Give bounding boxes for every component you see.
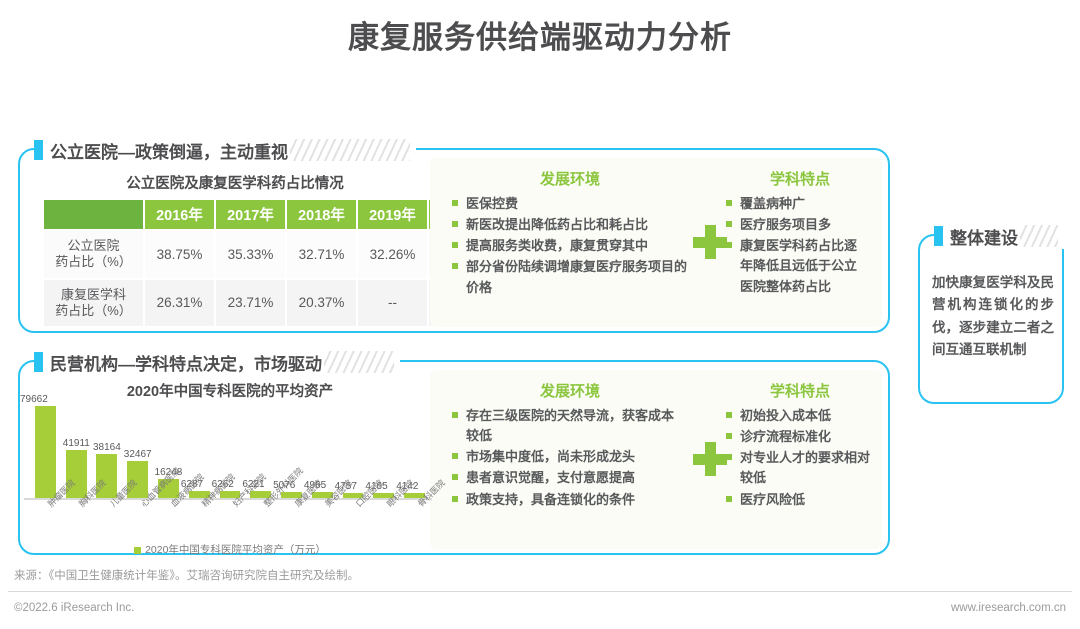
list-item: 覆盖病种广 xyxy=(726,194,866,214)
list-item: 存在三级医院的天然导流，获客成本较低 xyxy=(452,406,684,446)
list-item: 康复医学科药占比逐年降低且远低于公立医院整体药占比 xyxy=(726,236,866,296)
panel-public-hospital-title: 公立医院—政策倒逼，主动重视 xyxy=(50,138,288,163)
env-bullet-list: 存在三级医院的天然导流，获客成本较低 市场集中度低，尚未形成龙头 患者意识觉醒，… xyxy=(452,406,684,511)
hatch-decoration-icon xyxy=(290,139,410,161)
legend-swatch-icon xyxy=(134,547,141,554)
page-title: 康复服务供给端驱动力分析 xyxy=(0,12,1080,57)
panel-private-institution-title: 民营机构—学科特点决定，市场驱动 xyxy=(50,350,322,375)
table-cell: 23.71% xyxy=(216,280,285,327)
plus-icon xyxy=(693,442,727,476)
x-tick: 美容医院 xyxy=(307,501,338,543)
feature-bullet-list: 覆盖病种广 医疗服务项目多 康复医学科药占比逐年降低且远低于公立医院整体药占比 xyxy=(726,194,866,298)
x-tick: 胸科医院 xyxy=(61,501,92,543)
table-col-2017: 2017年 xyxy=(216,200,285,229)
panel-overall-construction: 整体建设 加快康复医学科及民营机构连锁化的步伐，逐步建立二者之间互通互联机制 xyxy=(918,234,1064,404)
feature-column-title: 学科特点 xyxy=(720,168,880,189)
plus-icon xyxy=(693,225,727,259)
bar-value-label: 41911 xyxy=(63,438,90,449)
panel-overall-construction-header: 整体建设 xyxy=(934,223,1064,249)
feature-bullet-list: 初始投入成本低 诊疗流程标准化 对专业人才的要求相对较低 医疗风险低 xyxy=(726,406,870,511)
panel-public-hospital-header: 公立医院—政策倒逼，主动重视 xyxy=(34,137,416,163)
bar-value-label: 79662 xyxy=(20,394,48,405)
website-url[interactable]: www.iresearch.com.cn xyxy=(951,602,1066,614)
x-tick: 眼科医院 xyxy=(368,501,399,543)
panel-overall-construction-title: 整体建设 xyxy=(950,224,1018,249)
list-item: 医保控费 xyxy=(452,194,690,214)
panel-public-hospital: 公立医院—政策倒逼，主动重视 公立医院及康复医学科药占比情况 2016年 201… xyxy=(18,148,890,333)
x-tick: 康复医院 xyxy=(276,501,307,543)
panel-private-institution-header: 民营机构—学科特点决定，市场驱动 xyxy=(34,349,400,375)
x-tick: 骨科医院 xyxy=(399,501,430,543)
row-label-line2: 药占比（%） xyxy=(55,254,132,269)
table-cell: 32.26% xyxy=(358,231,427,278)
list-item: 医疗服务项目多 xyxy=(726,215,866,235)
bar-value-label: 32467 xyxy=(124,449,152,460)
accent-bar-icon xyxy=(34,352,43,372)
list-item: 部分省份陆续调增康复医疗服务项目的价格 xyxy=(452,257,690,297)
copyright-text: ©2022.6 iResearch Inc. xyxy=(14,602,134,614)
footer-divider xyxy=(8,591,1072,592)
list-item: 新医改提出降低药占比和耗占比 xyxy=(452,215,690,235)
table-row-label: 公立医院 药占比（%） xyxy=(44,231,143,278)
x-tick: 心血管病医院 xyxy=(122,501,153,543)
env-column-title: 发展环境 xyxy=(475,380,665,401)
x-tick: 口腔医院 xyxy=(338,501,369,543)
list-item: 医疗风险低 xyxy=(726,490,870,510)
env-column-title: 发展环境 xyxy=(475,168,665,189)
source-note: 来源：《中国卫生健康统计年鉴》。艾瑞咨询研究院自主研究及绘制。 xyxy=(14,567,359,583)
list-item: 市场集中度低，尚未形成龙头 xyxy=(452,447,684,467)
chart-x-tick-labels: 肿瘤医院胸科医院儿童医院心血管病医院血液病医院精神病医院妇产科医院整形外科医院康… xyxy=(30,501,430,543)
list-item: 政策支持，具备连锁化的条件 xyxy=(452,490,684,510)
list-item: 初始投入成本低 xyxy=(726,406,870,426)
x-tick: 妇产科医院 xyxy=(215,501,246,543)
hatch-decoration-icon xyxy=(324,351,394,373)
bar xyxy=(35,406,56,498)
feature-column-title: 学科特点 xyxy=(720,380,880,401)
table-cell: 32.71% xyxy=(287,231,356,278)
bar-item: 79662 xyxy=(30,398,61,498)
table-col-2018: 2018年 xyxy=(287,200,356,229)
table-col-2019: 2019年 xyxy=(358,200,427,229)
bar-value-label: 38164 xyxy=(93,442,121,453)
x-tick: 血液病医院 xyxy=(153,501,184,543)
table-caption: 公立医院及康复医学科药占比情况 xyxy=(50,172,420,193)
env-bullet-list: 医保控费 新医改提出降低药占比和耗占比 提高服务类收费，康复贯穿其中 部分省份陆… xyxy=(452,194,690,299)
accent-bar-icon xyxy=(34,140,43,160)
table-col-2016: 2016年 xyxy=(145,200,214,229)
table-corner-cell xyxy=(44,200,143,229)
table-cell: 20.37% xyxy=(287,280,356,327)
table-row-label: 康复医学科 药占比（%） xyxy=(44,280,143,327)
chart-legend: 2020年中国专科医院平均资产（万元） xyxy=(30,542,430,557)
row-label-line2: 药占比（%） xyxy=(55,303,132,318)
x-tick: 整形外科医院 xyxy=(245,501,276,543)
list-item: 提高服务类收费，康复贯穿其中 xyxy=(452,236,690,256)
table-cell: 35.33% xyxy=(216,231,285,278)
row-label-line1: 康复医学科 xyxy=(61,287,126,302)
x-tick: 精神病医院 xyxy=(184,501,215,543)
legend-label: 2020年中国专科医院平均资产（万元） xyxy=(145,544,326,556)
list-item: 对专业人才的要求相对较低 xyxy=(726,448,870,488)
x-tick: 肿瘤医院 xyxy=(30,501,61,543)
table-cell: 26.31% xyxy=(145,280,214,327)
table-cell: -- xyxy=(358,280,427,327)
list-item: 诊疗流程标准化 xyxy=(726,427,870,447)
hatch-decoration-icon xyxy=(1020,225,1058,247)
accent-bar-icon xyxy=(934,226,943,246)
list-item: 患者意识觉醒，支付意愿提高 xyxy=(452,468,684,488)
panel-overall-construction-body: 加快康复医学科及民营机构连锁化的步伐，逐步建立二者之间互通互联机制 xyxy=(932,272,1054,361)
row-label-line1: 公立医院 xyxy=(67,238,119,253)
table-cell: 38.75% xyxy=(145,231,214,278)
x-tick: 儿童医院 xyxy=(92,501,123,543)
